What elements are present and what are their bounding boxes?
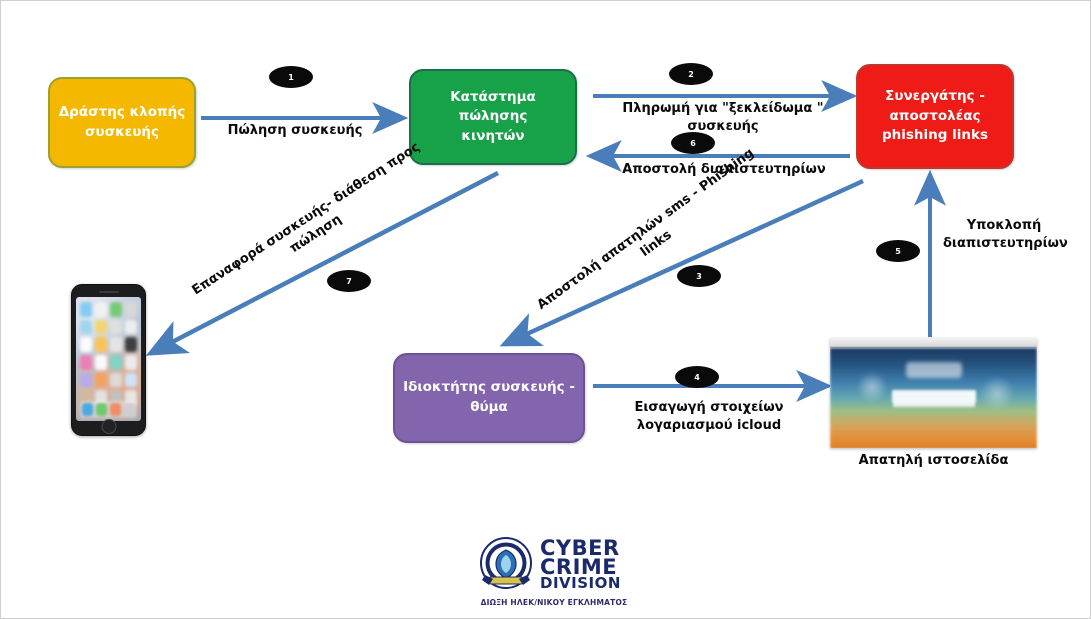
edge-label-4: Εισαγωγή στοιχείων λογαριασμού icloud	[598, 399, 820, 434]
edge-label-6: Αποστολή διαπιστευτηρίων	[593, 161, 855, 179]
edge-label-5: Υποκλοπή διαπιστευτηρίων	[943, 217, 1065, 252]
node-thief[interactable]: Δράστης κλοπής συσκευής	[48, 77, 196, 168]
hellenic-police-badge-icon	[479, 537, 533, 593]
step-badge-2: 2	[669, 63, 713, 85]
step-badge-1: 1	[269, 66, 313, 88]
icloud-logo-icon	[906, 362, 962, 378]
background-glow	[855, 370, 889, 404]
node-thief-label: Δράστης κλοπής συσκευής	[59, 103, 186, 142]
node-victim-label: Ιδιοκτήτης συσκευής - θύμα	[403, 378, 575, 417]
edge-label-2: Πληρωμή για "ξεκλείδωμα " συσκευής	[587, 100, 859, 135]
phone-home-button-icon	[101, 419, 116, 434]
logo-line-3: DIVISION	[540, 577, 621, 591]
edge-label-7: Επαναφορά συσκευής- διάθεση προς πώληση	[180, 133, 442, 320]
fake-website-image	[830, 338, 1037, 448]
phone-dock	[80, 401, 137, 418]
node-accomplice-label: Συνεργάτης - αποστολέας phishing links	[882, 87, 988, 146]
browser-chrome-bar	[830, 338, 1037, 348]
stolen-phone-image	[71, 284, 146, 436]
node-victim[interactable]: Ιδιοκτήτης συσκευής - θύμα	[393, 353, 585, 443]
step-badge-5: 5	[876, 240, 920, 262]
background-glow	[978, 374, 1016, 412]
login-input-field	[892, 390, 976, 403]
cyber-crime-division-logo: CYBER CRIME DIVISION ΔΙΩΞΗ ΗΛΕΚ/ΝΙΚΟΥ ΕΓ…	[479, 537, 629, 609]
fake-icloud-login-screenshot	[830, 348, 1037, 448]
step-badge-3: 3	[677, 265, 721, 287]
logo-subtitle: ΔΙΩΞΗ ΗΛΕΚ/ΝΙΚΟΥ ΕΓΚΛΗΜΑΤΟΣ	[479, 598, 629, 607]
phone-app-grid	[80, 302, 137, 405]
phone-speaker-icon	[99, 291, 119, 293]
diagram-canvas: Δράστης κλοπής συσκευής Κατάστημα πώληση…	[0, 0, 1091, 619]
fake-website-caption: Απατηλή ιστοσελίδα	[830, 453, 1037, 468]
step-badge-4: 4	[675, 366, 719, 388]
step-badge-7: 7	[327, 270, 371, 292]
edge-label-1: Πώληση συσκευής	[205, 122, 385, 140]
step-badge-6: 6	[671, 132, 715, 154]
node-accomplice[interactable]: Συνεργάτης - αποστολέας phishing links	[856, 64, 1014, 169]
node-shop-label: Κατάστημα πώλησης κινητών	[419, 88, 567, 147]
phone-screen	[76, 297, 141, 421]
